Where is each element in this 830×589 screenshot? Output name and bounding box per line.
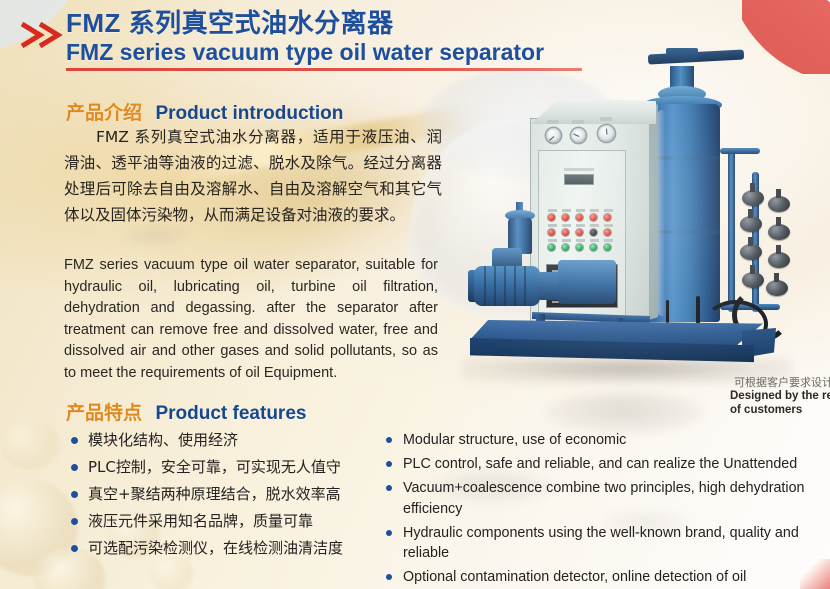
- droplet-decoration: [0, 420, 60, 470]
- bullet-dot-icon: [71, 464, 78, 471]
- list-item: Vacuum+coalescence combine two principle…: [385, 478, 821, 519]
- features-list-en: Modular structure, use of economic PLC c…: [385, 430, 821, 589]
- section-heading-introduction: 产品介绍 Product introduction: [66, 98, 343, 125]
- intro-heading-en: Product introduction: [155, 103, 343, 124]
- list-item: PLC控制，安全可靠，可实现无人值守: [70, 455, 388, 480]
- list-item-label: Vacuum+coalescence combine two principle…: [403, 480, 804, 517]
- intro-heading-cn: 产品介绍: [66, 103, 142, 124]
- list-item-label: PLC control, safe and reliable, and can …: [403, 456, 797, 472]
- list-item-label: 模块化结构、使用经济: [88, 431, 238, 449]
- caption-line-en-2: of customers: [700, 403, 830, 417]
- title-block: FMZ 系列真空式油水分离器 FMZ series vacuum type oi…: [66, 8, 544, 65]
- bullet-dot-icon: [71, 491, 78, 498]
- brochure-page: FMZ 系列真空式油水分离器 FMZ series vacuum type oi…: [0, 0, 830, 589]
- bullet-dot-icon: [386, 461, 392, 467]
- features-heading-en: Product features: [155, 403, 306, 424]
- list-item: PLC control, safe and reliable, and can …: [385, 454, 821, 475]
- product-photo: [452, 52, 830, 392]
- list-item: 可选配污染检测仪，在线检测油清洁度: [70, 536, 388, 561]
- bullet-dot-icon: [386, 437, 392, 443]
- list-item: 模块化结构、使用经济: [70, 428, 388, 453]
- blur-decoration: [120, 225, 190, 247]
- list-item-label: PLC控制，安全可靠，可实现无人值守: [88, 458, 341, 476]
- list-item-label: 可选配污染检测仪，在线检测油清洁度: [88, 539, 343, 557]
- bullet-dot-icon: [386, 530, 392, 536]
- page-title-cn: FMZ 系列真空式油水分离器: [66, 8, 544, 38]
- section-heading-features: 产品特点 Product features: [66, 398, 306, 425]
- bullet-dot-icon: [71, 437, 78, 444]
- list-item: Hydraulic components using the well-know…: [385, 523, 821, 564]
- list-item: 真空+聚结两种原理结合，脱水效率高: [70, 482, 388, 507]
- list-item: Optional contamination detector, online …: [385, 567, 821, 589]
- list-item-label: Optional contamination detector, online …: [403, 569, 746, 589]
- list-item: Modular structure, use of economic: [385, 430, 821, 451]
- list-item-label: Hydraulic components using the well-know…: [403, 525, 799, 562]
- bullet-dot-icon: [386, 574, 392, 580]
- list-item-label: 真空+聚结两种原理结合，脱水效率高: [88, 485, 341, 503]
- page-title-en: FMZ series vacuum type oil water separat…: [66, 39, 544, 65]
- title-underline: [66, 68, 582, 71]
- list-item-label: Modular structure, use of economic: [403, 432, 626, 448]
- caption-line-cn: 可根据客户要求设计: [700, 376, 830, 389]
- bullet-dot-icon: [71, 545, 78, 552]
- double-chevron-right-icon: [20, 22, 66, 48]
- photo-glow: [432, 52, 830, 388]
- list-item: 液压元件采用知名品牌，质量可靠: [70, 509, 388, 534]
- list-item-label: 液压元件采用知名品牌，质量可靠: [88, 512, 313, 530]
- intro-paragraph-cn: FMZ 系列真空式油水分离器，适用于液压油、润滑油、透平油等油液的过滤、脱水及除…: [64, 124, 442, 228]
- caption-line-en-1: Designed by the require: [700, 389, 830, 403]
- page-header: FMZ 系列真空式油水分离器 FMZ series vacuum type oi…: [0, 0, 830, 74]
- bullet-dot-icon: [71, 518, 78, 525]
- bullet-dot-icon: [386, 485, 392, 491]
- blur-decoration: [545, 392, 705, 434]
- intro-paragraph-en: FMZ series vacuum type oil water separat…: [64, 255, 438, 384]
- features-list-cn: 模块化结构、使用经济 PLC控制，安全可靠，可实现无人值守 真空+聚结两种原理结…: [70, 428, 388, 563]
- features-heading-cn: 产品特点: [66, 403, 142, 424]
- photo-caption: 可根据客户要求设计 Designed by the require of cus…: [700, 376, 830, 417]
